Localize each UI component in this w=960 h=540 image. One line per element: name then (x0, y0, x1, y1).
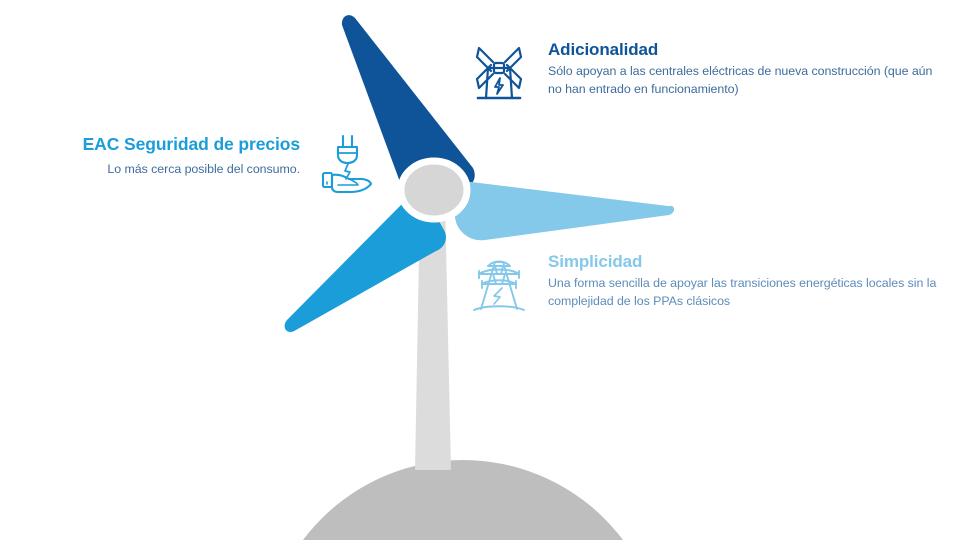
blade-right (450, 181, 674, 240)
callout-eac-body: Lo más cerca posible del consumo. (83, 161, 300, 179)
callout-simplicidad-text: Simplicidad Una forma sencilla de apoyar… (548, 252, 948, 311)
turbine-hub (401, 161, 467, 219)
callout-adicionalidad: Adicionalidad Sólo apoyan a las centrale… (466, 40, 956, 106)
plug-in-hand-icon (314, 130, 380, 196)
callout-eac-seguridad-de-precios: EAC Seguridad de precios Lo más cerca po… (30, 130, 380, 196)
ground-hill (263, 460, 663, 540)
callout-adicionalidad-text: Adicionalidad Sólo apoyan a las centrale… (548, 40, 948, 99)
windmill-icon (466, 40, 532, 106)
callout-eac-title: EAC Seguridad de precios (83, 134, 300, 155)
callout-eac-text: EAC Seguridad de precios Lo más cerca po… (83, 130, 300, 179)
callout-adicionalidad-body: Sólo apoyan a las centrales eléctricas d… (548, 63, 948, 98)
callout-simplicidad: Simplicidad Una forma sencilla de apoyar… (466, 252, 956, 318)
infographic-canvas: Adicionalidad Sólo apoyan a las centrale… (0, 0, 960, 540)
callout-adicionalidad-title: Adicionalidad (548, 40, 948, 60)
callout-simplicidad-title: Simplicidad (548, 252, 948, 272)
power-pylon-icon (466, 252, 532, 318)
callout-simplicidad-body: Una forma sencilla de apoyar las transic… (548, 275, 948, 310)
